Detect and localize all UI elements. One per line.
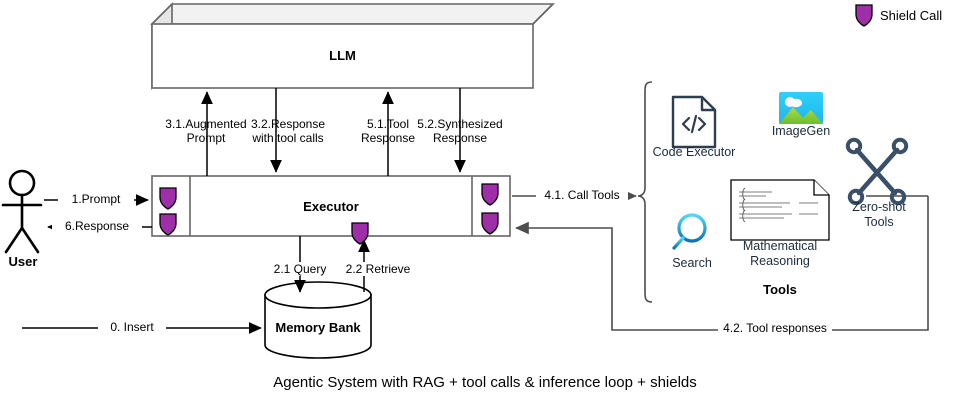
tool-label-search: Search: [657, 256, 727, 271]
crossed-tools-icon[interactable]: [848, 140, 906, 203]
math-document-icon[interactable]: [731, 180, 829, 240]
diagram-canvas: LLM Executor Memory Bank User 3.1.Augmen…: [0, 0, 970, 411]
shield-legend-icon: [856, 5, 872, 26]
tool-label-zero-shot-tools-line1: Zero-shot: [840, 200, 918, 215]
tool-label-imagegen: ImageGen: [766, 124, 836, 139]
user-actor[interactable]: [3, 171, 41, 252]
llm-node[interactable]: [152, 4, 553, 88]
llm-label: LLM: [152, 48, 533, 63]
tool-label-mathematical-reasoning-line1: Mathematical: [724, 239, 836, 254]
tool-label-mathematical-reasoning-line2: Reasoning: [724, 254, 836, 269]
diagram-caption: Agentic System with RAG + tool calls & i…: [0, 374, 970, 391]
magnifier-icon[interactable]: [674, 215, 705, 248]
memory-bank-label: Memory Bank: [265, 320, 371, 335]
tool-label-code-executor: Code Executor: [644, 145, 744, 160]
executor-label: Executor: [190, 199, 472, 214]
llm-executor-arrows: [207, 88, 460, 176]
shield-executor-memory: [352, 223, 368, 244]
tools-brace: [638, 82, 652, 302]
code-document-icon[interactable]: [673, 97, 715, 147]
tool-label-zero-shot-tools-line2: Tools: [840, 215, 918, 230]
user-executor-arrows: [44, 200, 152, 227]
image-icon[interactable]: [779, 92, 823, 124]
